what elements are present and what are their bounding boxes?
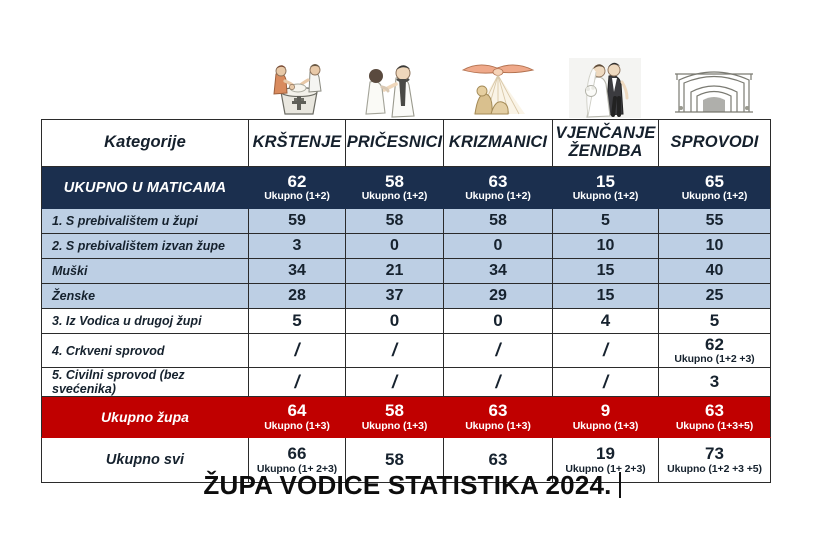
table-cell: 64 Ukupno (1+3)	[249, 397, 346, 438]
table-cell: /	[444, 334, 553, 368]
cell-value: 62	[249, 173, 345, 190]
table-cell: 21	[346, 259, 444, 284]
table-cell: /	[553, 368, 659, 397]
table-cell: 0	[346, 234, 444, 259]
table-cell: 58	[346, 209, 444, 234]
row-label: 5. Civilni sprovod (bez svećenika)	[42, 368, 249, 397]
table-row: Ženske 28 37 29 15 25	[42, 284, 771, 309]
table-cell: 63 Ukupno (1+3+5)	[659, 397, 771, 438]
table-cell: /	[553, 334, 659, 368]
cell-value: 58	[346, 402, 443, 419]
table-cell: 58 Ukupno (1+3)	[346, 397, 444, 438]
column-header-sprovodi: SPROVODI	[659, 120, 771, 167]
row-label: Ukupno župa	[42, 397, 249, 438]
baptism-font-clipart	[248, 52, 345, 118]
table-cell: 9 Ukupno (1+3)	[553, 397, 659, 438]
cell-value: 63	[444, 173, 552, 190]
table-cell: 37	[346, 284, 444, 309]
table-cell: 40	[659, 259, 771, 284]
table-cell: 15	[553, 259, 659, 284]
cell-note: Ukupno (1+3)	[249, 421, 345, 432]
cell-value: 63	[444, 402, 552, 419]
table-cell: 63 Ukupno (1+3)	[444, 397, 553, 438]
table-cell: 59	[249, 209, 346, 234]
cell-value: 62	[659, 336, 770, 353]
column-header-krizmanici: KRIZMANICI	[444, 120, 553, 167]
table-header-row: Kategorije KRŠTENJE PRIČESNICI KRIZMANIC…	[42, 120, 771, 167]
cell-note: Ukupno (1+2)	[346, 191, 443, 202]
cell-value: 63	[444, 451, 552, 468]
table-cell: 63 Ukupno (1+2)	[444, 167, 553, 209]
table-cell: 3	[249, 234, 346, 259]
cell-value: /	[444, 341, 552, 359]
page-title: ŽUPA VODICE STATISTIKA 2024.	[0, 470, 824, 501]
cell-value: /	[553, 341, 658, 359]
row-label: 4. Crkveni sprovod	[42, 334, 249, 368]
cell-value: 9	[553, 402, 658, 419]
cell-note: Ukupno (1+2)	[553, 191, 658, 202]
cell-note: Ukupno (1+3)	[553, 421, 658, 432]
table-row: Ukupno župa 64 Ukupno (1+3) 58 Ukupno (1…	[42, 397, 771, 438]
table-cell: 15	[553, 284, 659, 309]
statistics-table: Kategorije KRŠTENJE PRIČESNICI KRIZMANIC…	[41, 119, 771, 483]
row-label: UKUPNO U MATICAMA	[42, 167, 249, 209]
column-header-krstenje: KRŠTENJE	[249, 120, 346, 167]
tomb-clipart	[658, 52, 770, 118]
table-cell: 62 Ukupno (1+2)	[249, 167, 346, 209]
column-header-kategorije: Kategorije	[42, 120, 249, 167]
table-cell: /	[444, 368, 553, 397]
page-title-text: ŽUPA VODICE STATISTIKA 2024.	[203, 470, 611, 500]
table-cell: 29	[444, 284, 553, 309]
cell-value: 19	[553, 445, 658, 462]
clipart-strip	[248, 52, 770, 118]
cell-value: 58	[346, 173, 443, 190]
table-cell: 10	[659, 234, 771, 259]
cell-value: /	[249, 341, 345, 359]
table-cell: 55	[659, 209, 771, 234]
table-cell: 25	[659, 284, 771, 309]
cell-note: Ukupno (1+2)	[444, 191, 552, 202]
table-row: 2. S prebivalištem izvan župe 3 0 0 10 1…	[42, 234, 771, 259]
row-label: 2. S prebivalištem izvan župe	[42, 234, 249, 259]
cell-note: Ukupno (1+3)	[444, 421, 552, 432]
wedding-couple-clipart	[552, 52, 658, 118]
cell-value: 58	[346, 451, 443, 468]
table-cell: 0	[346, 309, 444, 334]
table-cell: 58	[444, 209, 553, 234]
table-cell: /	[249, 368, 346, 397]
cell-value: 66	[249, 445, 345, 462]
cell-note: Ukupno (1+2 +3)	[659, 354, 770, 365]
slide-canvas: Kategorije KRŠTENJE PRIČESNICI KRIZMANIC…	[0, 0, 824, 544]
table-row: UKUPNO U MATICAMA 62 Ukupno (1+2) 58 Uku…	[42, 167, 771, 209]
cell-value: /	[346, 373, 443, 391]
table-cell: 62 Ukupno (1+2 +3)	[659, 334, 771, 368]
row-label: 3. Iz Vodica u drugoj župi	[42, 309, 249, 334]
cell-value: 64	[249, 402, 345, 419]
cell-value: /	[249, 373, 345, 391]
table-row: 1. S prebivalištem u župi 59 58 58 5 55	[42, 209, 771, 234]
table-cell: 34	[444, 259, 553, 284]
row-label: 1. S prebivalištem u župi	[42, 209, 249, 234]
table-cell: /	[346, 368, 444, 397]
table-cell: /	[249, 334, 346, 368]
table-row: 4. Crkveni sprovod / / / / 62 Ukupno (1+…	[42, 334, 771, 368]
column-header-vjencanje: VJENČANJE ŽENIDBA	[553, 120, 659, 167]
first-communion-clipart	[345, 52, 443, 118]
cell-value: /	[553, 373, 658, 391]
cell-value: 63	[659, 402, 770, 419]
table-cell: 5	[659, 309, 771, 334]
table-cell: 58 Ukupno (1+2)	[346, 167, 444, 209]
text-cursor	[619, 472, 621, 498]
column-header-pricesnici: PRIČESNICI	[346, 120, 444, 167]
table-row: 5. Civilni sprovod (bez svećenika) / / /…	[42, 368, 771, 397]
cell-note: Ukupno (1+2)	[249, 191, 345, 202]
cell-value: /	[444, 373, 552, 391]
table-cell: 0	[444, 234, 553, 259]
table-cell: 34	[249, 259, 346, 284]
cell-value: /	[346, 341, 443, 359]
table-cell: 5	[553, 209, 659, 234]
cell-note: Ukupno (1+2)	[659, 191, 770, 202]
table-cell: 0	[444, 309, 553, 334]
cell-value: 73	[659, 445, 770, 462]
confirmation-dove-clipart	[443, 52, 552, 118]
table-cell: 5	[249, 309, 346, 334]
table-cell: 28	[249, 284, 346, 309]
row-label: Ženske	[42, 284, 249, 309]
table-cell: 10	[553, 234, 659, 259]
table-row: Muški 34 21 34 15 40	[42, 259, 771, 284]
table-cell: 4	[553, 309, 659, 334]
cell-value: 15	[553, 173, 658, 190]
row-label: Muški	[42, 259, 249, 284]
table-cell: 65 Ukupno (1+2)	[659, 167, 771, 209]
table-row: 3. Iz Vodica u drugoj župi 5 0 0 4 5	[42, 309, 771, 334]
table-cell: 15 Ukupno (1+2)	[553, 167, 659, 209]
cell-note: Ukupno (1+3)	[346, 421, 443, 432]
cell-note: Ukupno (1+3+5)	[659, 421, 770, 432]
table-cell: /	[346, 334, 444, 368]
table-cell: 3	[659, 368, 771, 397]
cell-value: 65	[659, 173, 770, 190]
